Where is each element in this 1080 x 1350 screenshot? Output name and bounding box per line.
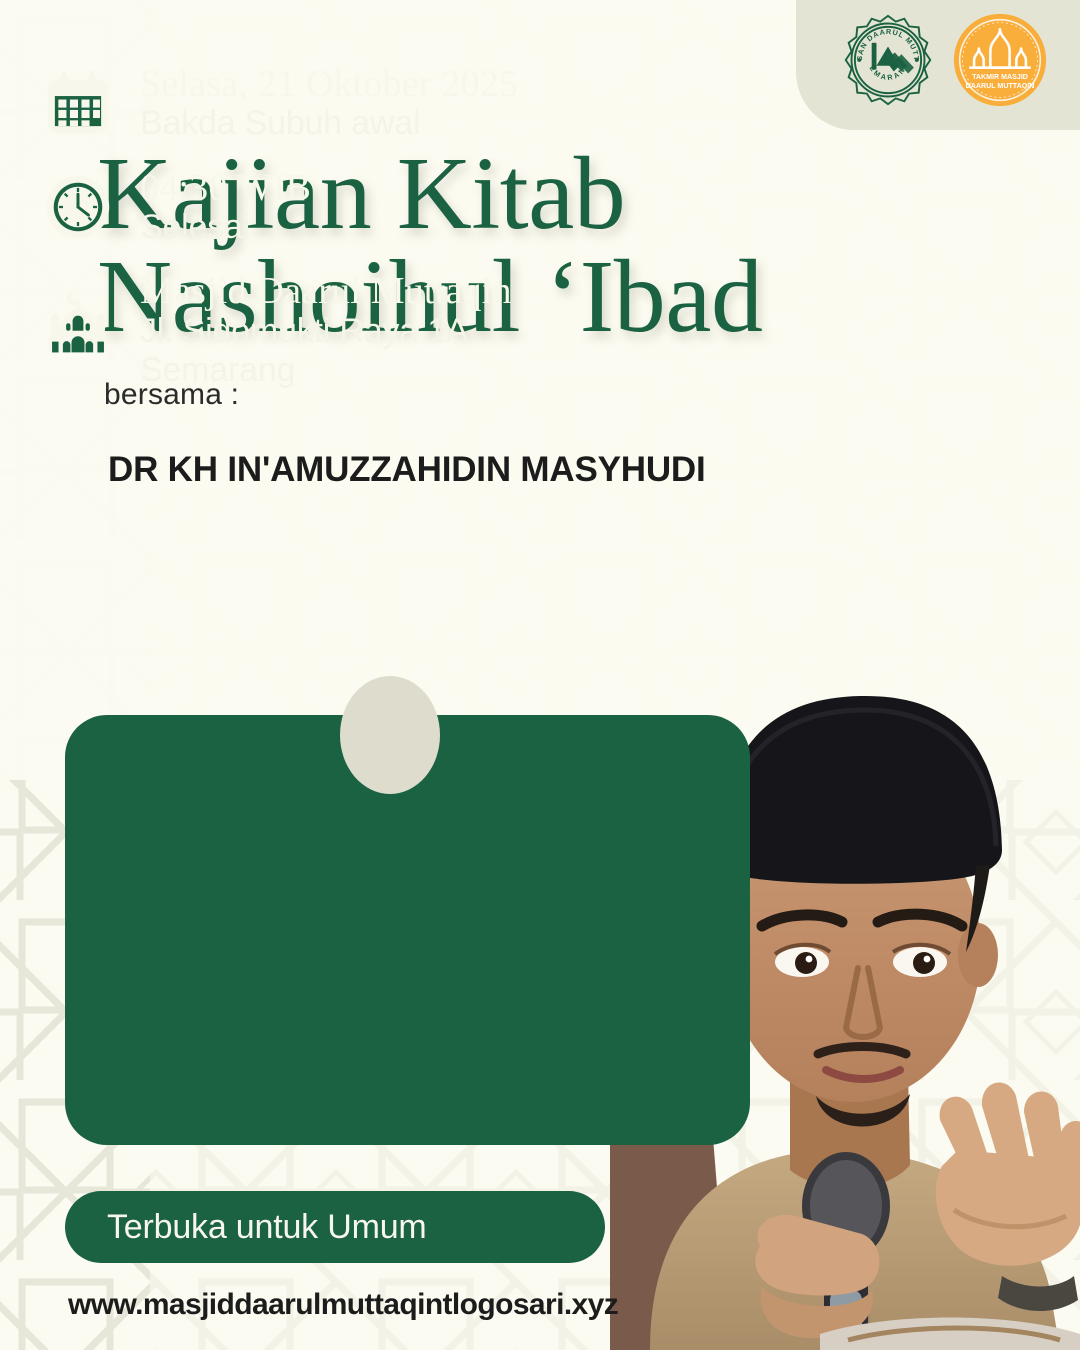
open-to-public-label: Terbuka untuk Umum [107,1208,427,1247]
card-notch-circle [340,676,440,794]
detail-row-time: 04:30 WIB Selesai [38,166,1080,248]
mosque-icon [38,269,118,357]
open-to-public-badge: Terbuka untuk Umum [65,1191,605,1263]
detail-venue-street: Jl. Sidomukti Raya 1A [140,312,468,350]
detail-time-primary: 04:30 WIB [140,167,311,209]
detail-date-primary: Selasa, 21 Oktober 2025 [140,63,518,105]
detail-venue-city: Semarang [140,351,295,389]
detail-row-date: Selasa, 21 Oktober 2025 Bakda Subuh awal [38,62,1080,144]
event-details-rows: Selasa, 21 Oktober 2025 Bakda Subuh awal [0,0,1080,430]
detail-date-secondary: Bakda Subuh awal [140,104,420,142]
detail-row-location: Masjid Daarul Muttaqin Jl. Sidomukti Ray… [38,269,1080,390]
detail-time-secondary: Selesai [140,208,250,246]
website-url[interactable]: www.masjiddaarulmuttaqintlogosari.xyz [68,1288,618,1322]
calendar-icon [38,62,118,140]
detail-venue-primary: Masjid Daarul Muttaqin [140,270,512,312]
speaker-name: DR KH IN'AMUZZAHIDIN MASYHUDI [108,450,706,490]
clock-icon [38,166,118,244]
